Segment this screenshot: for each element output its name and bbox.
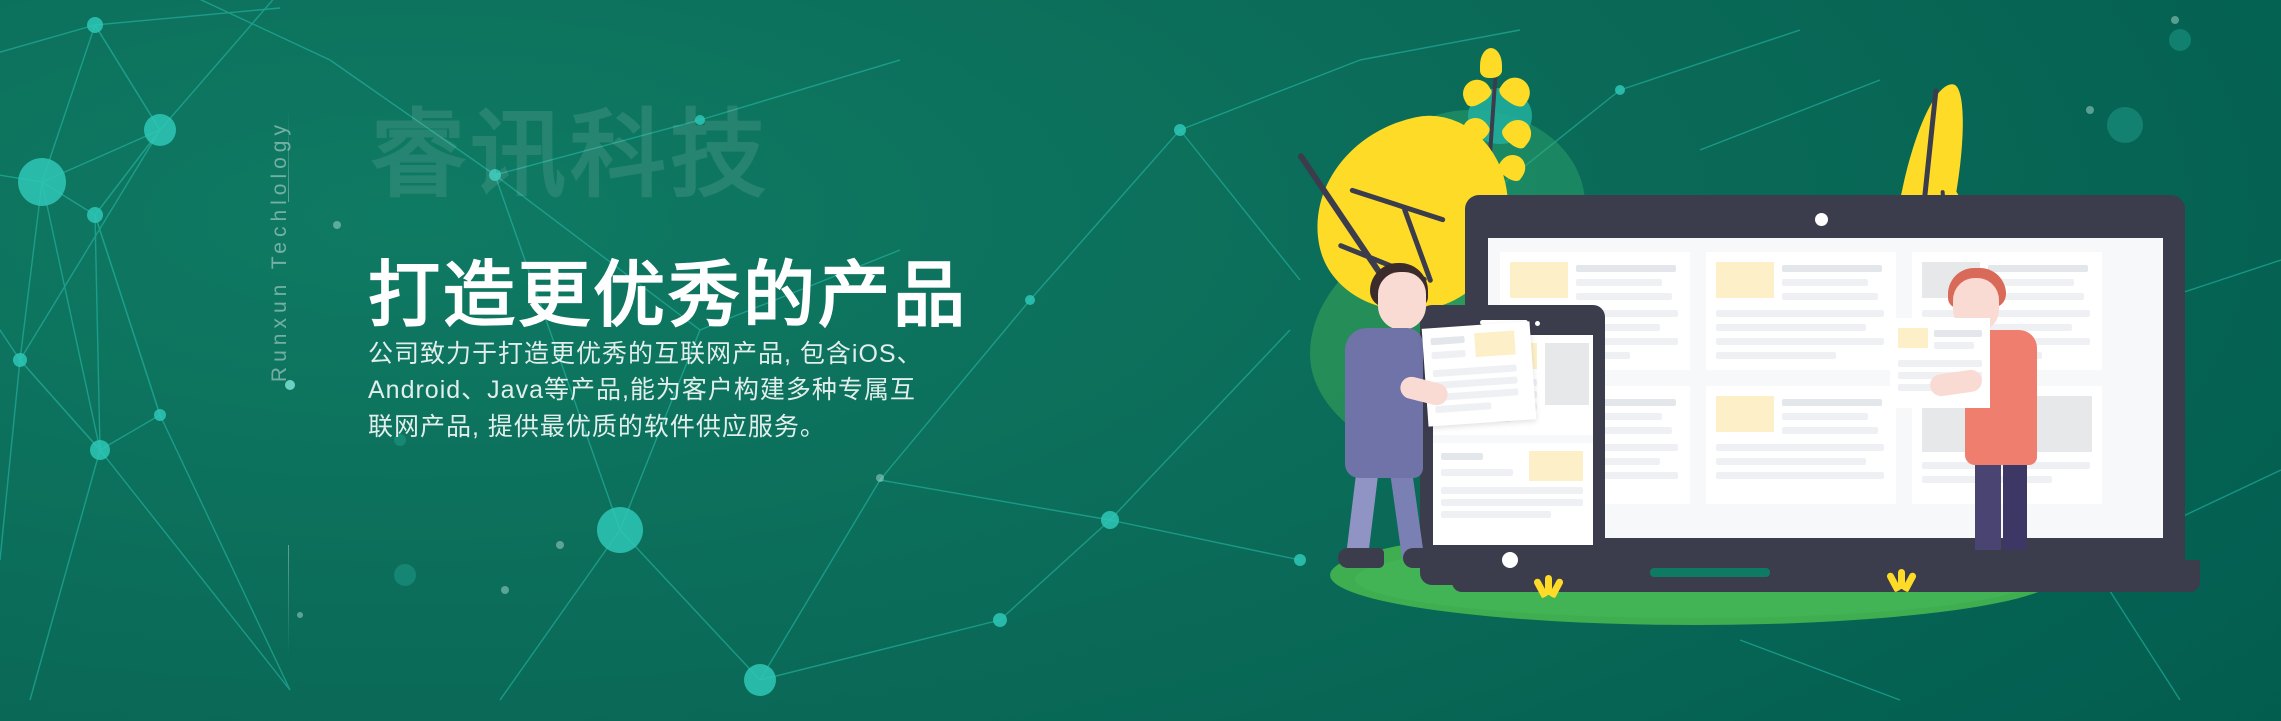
hero-copy: Runxun Techlology 睿讯科技 打造更优秀的产品 公司致力于打造更… — [0, 0, 2281, 721]
hero-description: 公司致力于打造更优秀的互联网产品, 包含iOS、 Android、Java等产品… — [368, 336, 1068, 445]
hero-description-line: 联网产品, 提供最优质的软件供应服务。 — [368, 409, 1068, 445]
watermark-text: 睿讯科技 — [370, 108, 770, 204]
brand-vertical-label: Runxun Techlology — [268, 120, 292, 382]
hero-description-line: 公司致力于打造更优秀的互联网产品, 包含iOS、 — [368, 336, 1068, 372]
hero-description-line: Android、Java等产品,能为客户构建多种专属互 — [368, 372, 1068, 408]
brand-divider-bottom — [288, 545, 289, 655]
page-title: 打造更优秀的产品 — [368, 260, 968, 332]
hero-banner: Runxun Techlology 睿讯科技 打造更优秀的产品 公司致力于打造更… — [0, 0, 2281, 721]
